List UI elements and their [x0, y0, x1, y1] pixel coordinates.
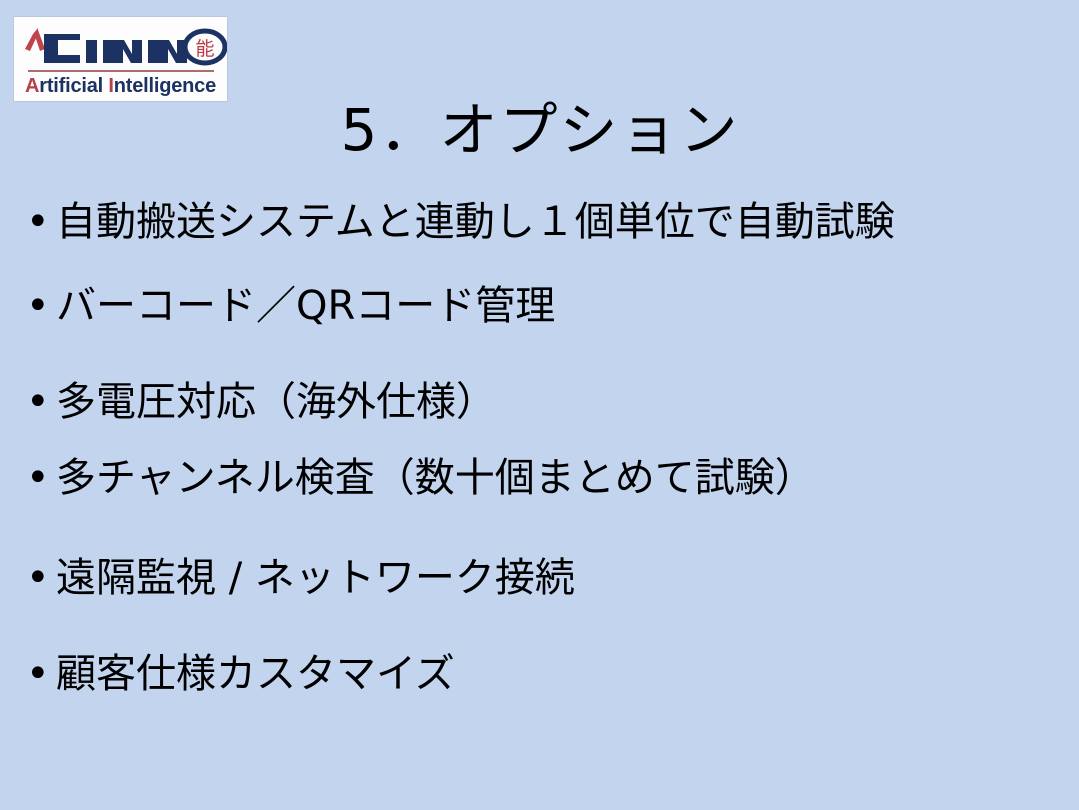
logo-tagline-ntelligence: ntelligence	[114, 75, 216, 97]
jinn-kanji-person-icon	[25, 28, 45, 51]
jinn-letters-inn	[86, 40, 187, 63]
logo-divider-rule	[28, 70, 214, 72]
presentation-slide: 能 Artificial Intelligence 5．オプション • 自動搬送…	[0, 0, 1079, 810]
company-logo: 能 Artificial Intelligence	[13, 16, 228, 102]
logo-tagline: Artificial Intelligence	[14, 73, 227, 99]
bullet-marker-icon: •	[20, 280, 56, 332]
list-item: • 顧客仕様カスタマイズ	[20, 648, 455, 700]
bullet-marker-icon: •	[20, 648, 56, 700]
bullet-marker-icon: •	[20, 376, 56, 428]
list-item-label: 自動搬送システムと連動し１個単位で自動試験	[56, 196, 895, 248]
logo-tagline-rtificial: rtificial	[39, 75, 103, 97]
slide-title: 5．オプション	[240, 91, 840, 169]
list-item-label: バーコード／QRコード管理	[56, 280, 555, 332]
svg-text:能: 能	[195, 38, 214, 60]
jinn-letter-j	[44, 34, 80, 63]
bullet-marker-icon: •	[20, 452, 56, 504]
list-item: • 遠隔監視 / ネットワーク接続	[20, 552, 575, 604]
list-item: • 多チャンネル検査（数十個まとめて試験）	[20, 452, 815, 504]
bullet-marker-icon: •	[20, 196, 56, 248]
list-item: • 自動搬送システムと連動し１個単位で自動試験	[20, 196, 895, 248]
list-item-label: 遠隔監視 / ネットワーク接続	[56, 552, 575, 604]
bullet-marker-icon: •	[20, 552, 56, 604]
list-item: • バーコード／QRコード管理	[20, 280, 555, 332]
jinn-kanji-circle-icon: 能	[185, 31, 225, 63]
list-item-label: 多電圧対応（海外仕様）	[56, 376, 496, 428]
list-item: • 多電圧対応（海外仕様）	[20, 376, 496, 428]
list-item-label: 多チャンネル検査（数十個まとめて試験）	[56, 452, 815, 504]
logo-tagline-a: A	[25, 75, 39, 97]
list-item-label: 顧客仕様カスタマイズ	[56, 648, 455, 700]
jinn-logo-mark: 能	[14, 21, 227, 69]
